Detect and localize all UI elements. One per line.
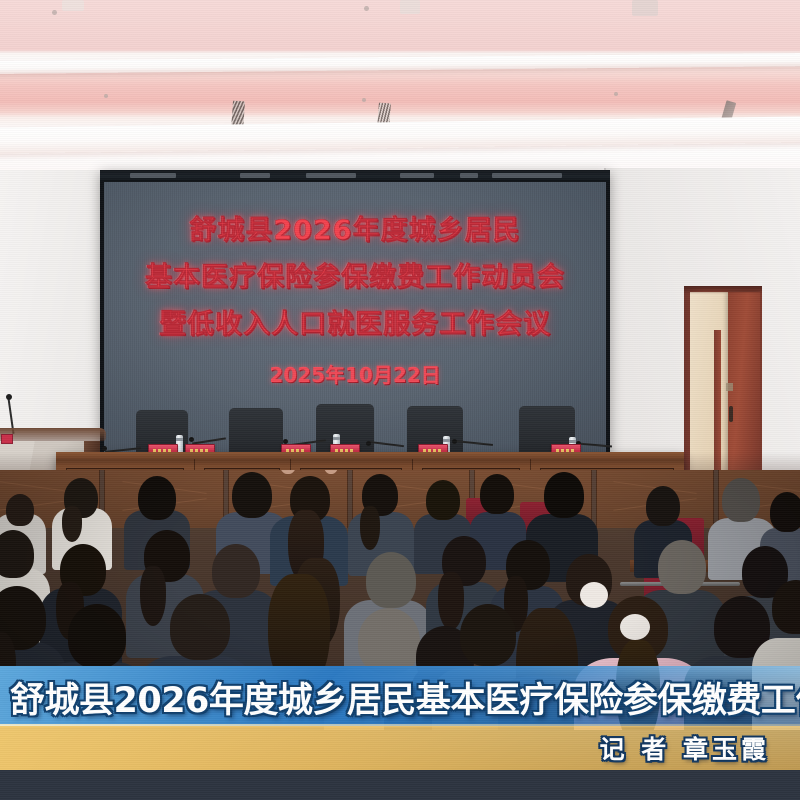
microphone-head-icon: [452, 439, 457, 444]
ceiling-cornice: [0, 116, 800, 154]
microphone-head-icon: [366, 441, 371, 446]
sprinkler-icon: [364, 6, 369, 11]
ceiling-fixture: [632, 0, 658, 16]
podium-nameplate: [1, 434, 13, 444]
microphone-head-icon: [189, 437, 194, 442]
hair-scrunchie: [620, 614, 650, 640]
door-handle[interactable]: [729, 406, 733, 422]
sprinkler-icon: [52, 10, 57, 15]
microphone-head-icon: [102, 446, 107, 451]
podium-microphone-head-icon: [6, 394, 12, 400]
head-table-top: [56, 452, 684, 459]
sprinkler-icon: [104, 94, 108, 98]
ceiling-fixture: [62, 0, 84, 11]
ceiling-soffit: [0, 53, 800, 74]
ceiling-fixture: [400, 0, 420, 14]
broadcast-frame: 舒城县2026年度城乡居民 基本医疗保险参保缴费工作动员会 暨低收入人口就医服务…: [0, 0, 800, 800]
led-screen-top-rail: [100, 170, 610, 182]
podium-top: [0, 428, 106, 441]
ceiling: [0, 0, 800, 178]
hair-scrunchie: [580, 582, 608, 608]
lower-third-base: [0, 770, 800, 800]
lower-third-reporter: 记 者 章玉霞: [0, 726, 770, 770]
sprinkler-icon: [614, 92, 618, 96]
sprinkler-icon: [362, 98, 366, 102]
lower-third-headline: 舒城县2026年度城乡居民基本医疗保险参保缴费工作动员会召开: [10, 668, 800, 726]
chair-back: [229, 408, 283, 456]
door-header-shadow: [684, 286, 762, 294]
door-lock-plate: [726, 383, 733, 391]
